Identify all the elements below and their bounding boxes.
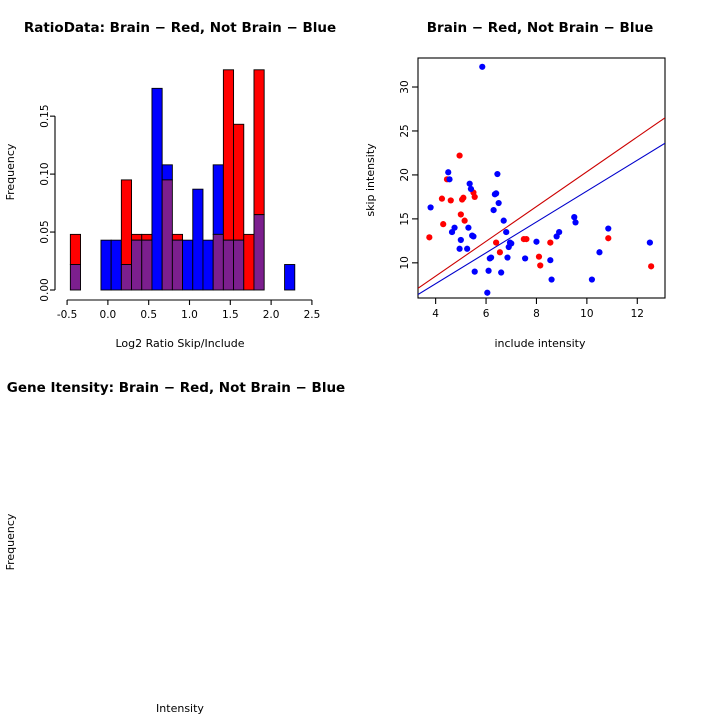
- y-tick-label: 0.15: [39, 104, 51, 127]
- plot-frame: [418, 58, 665, 298]
- x-tick-label: 2.0: [263, 309, 280, 321]
- hist-bar-overlap: [162, 180, 172, 290]
- ratio-histogram-xlabel: Log2 Ratio Skip/Include: [115, 337, 244, 350]
- hist-bar-overlap: [70, 265, 80, 290]
- y-tick-label: 0.10: [39, 162, 51, 185]
- ratio-histogram-svg: RatioData: Brain − Red, Not Brain − Blue…: [0, 0, 360, 360]
- scatter-point: [503, 229, 509, 235]
- scatter-point: [493, 190, 499, 196]
- y-tick-label: 0.05: [39, 220, 51, 243]
- scatter-point: [484, 290, 490, 296]
- scatter-point: [456, 152, 462, 158]
- intensity-scatter-frame: [418, 58, 665, 298]
- hist-bar-segment: [254, 70, 264, 215]
- x-tick-label: 10: [580, 308, 593, 320]
- ratio-histogram-ylabel: Frequency: [4, 143, 17, 200]
- x-tick-label: 6: [483, 308, 490, 320]
- scatter-point: [468, 186, 474, 192]
- hist-bar-segment: [121, 180, 131, 265]
- scatter-point: [448, 197, 454, 203]
- scatter-point: [496, 200, 502, 206]
- scatter-point: [498, 269, 504, 275]
- scatter-point: [479, 64, 485, 70]
- hist-bar-segment: [223, 70, 233, 240]
- figure-canvas: RatioData: Brain − Red, Not Brain − Blue…: [0, 0, 720, 720]
- hist-bar-segment: [213, 165, 223, 235]
- gene-intensity-title: Gene Itensity: Brain − Red, Not Brain − …: [7, 380, 345, 396]
- y-tick-label: 0.00: [39, 278, 51, 301]
- intensity-scatter-svg: Brain − Red, Not Brain − Blue 1015202530…: [360, 0, 720, 360]
- hist-bar-overlap: [223, 240, 233, 290]
- scatter-point: [485, 268, 491, 274]
- hist-bar-overlap: [234, 240, 244, 290]
- hist-bar-segment: [111, 240, 121, 290]
- hist-bar-overlap: [254, 215, 264, 290]
- hist-bar-overlap: [142, 240, 152, 290]
- panel-gene-intensity-histogram: Gene Itensity: Brain − Red, Not Brain − …: [0, 360, 360, 720]
- scatter-point: [428, 204, 434, 210]
- hist-bar-segment: [132, 234, 142, 240]
- y-tick-label: 10: [399, 256, 411, 269]
- x-tick-label: 1.5: [222, 309, 239, 321]
- scatter-point: [494, 171, 500, 177]
- scatter-point: [464, 246, 470, 252]
- hist-bar-segment: [70, 234, 80, 264]
- hist-bar-segment: [142, 234, 152, 240]
- hist-bar-overlap: [213, 234, 223, 290]
- scatter-point: [445, 169, 451, 175]
- scatter-point: [426, 234, 432, 240]
- hist-bar-segment: [183, 240, 193, 290]
- scatter-point: [491, 207, 497, 213]
- scatter-point: [556, 229, 562, 235]
- scatter-point: [488, 254, 494, 260]
- hist-bar-segment: [285, 265, 295, 290]
- gene-intensity-svg: Gene Itensity: Brain − Red, Not Brain − …: [0, 360, 360, 720]
- hist-bar-overlap: [172, 240, 182, 290]
- scatter-point: [537, 262, 543, 268]
- scatter-point: [605, 235, 611, 241]
- panel-ratio-histogram: RatioData: Brain − Red, Not Brain − Blue…: [0, 0, 360, 360]
- scatter-point: [501, 218, 507, 224]
- scatter-point: [533, 239, 539, 245]
- scatter-point: [571, 214, 577, 220]
- ratio-histogram-title: RatioData: Brain − Red, Not Brain − Blue: [24, 20, 336, 36]
- hist-bar-segment: [172, 234, 182, 240]
- ratio-histogram-bars: [70, 70, 294, 290]
- hist-bar-segment: [193, 189, 203, 290]
- scatter-point: [462, 218, 468, 224]
- scatter-point: [547, 240, 553, 246]
- x-tick-label: 0.0: [100, 309, 117, 321]
- scatter-point: [547, 257, 553, 263]
- scatter-point: [467, 181, 473, 187]
- x-tick-label: 4: [432, 308, 439, 320]
- scatter-point: [548, 276, 554, 282]
- intensity-scatter-title: Brain − Red, Not Brain − Blue: [427, 20, 653, 36]
- x-tick-label: 12: [631, 308, 644, 320]
- scatter-point: [572, 219, 578, 225]
- x-tick-label: 1.0: [181, 309, 198, 321]
- y-tick-label: 20: [399, 168, 411, 181]
- scatter-point: [493, 240, 499, 246]
- scatter-point: [508, 240, 514, 246]
- scatter-point: [605, 225, 611, 231]
- hist-bar-segment: [234, 124, 244, 240]
- scatter-point: [458, 237, 464, 243]
- hist-bar-segment: [152, 88, 162, 290]
- scatter-point: [472, 194, 478, 200]
- scatter-point: [648, 263, 654, 269]
- hist-bar-segment: [203, 240, 213, 290]
- intensity-scatter-ylabel: skip intensity: [364, 143, 377, 217]
- intensity-scatter-xlabel: include intensity: [494, 337, 586, 350]
- y-tick-label: 30: [399, 80, 411, 93]
- scatter-point: [504, 254, 510, 260]
- scatter-point: [451, 225, 457, 231]
- scatter-point: [647, 240, 653, 246]
- scatter-point: [497, 249, 503, 255]
- hist-bar-segment: [162, 165, 172, 180]
- scatter-point: [589, 276, 595, 282]
- x-tick-label: -0.5: [57, 309, 78, 321]
- scatter-point: [523, 236, 529, 242]
- regression-line-notbrain-fit: [418, 143, 665, 294]
- scatter-point: [522, 255, 528, 261]
- scatter-point: [458, 211, 464, 217]
- y-tick-label: 25: [399, 124, 411, 137]
- gene-intensity-xlabel: Intensity: [156, 702, 204, 715]
- hist-bar-overlap: [132, 240, 142, 290]
- hist-bar-overlap: [121, 265, 131, 290]
- panel-intensity-scatter: Brain − Red, Not Brain − Blue 1015202530…: [360, 0, 720, 360]
- scatter-point: [439, 196, 445, 202]
- scatter-point: [536, 254, 542, 260]
- scatter-point: [470, 233, 476, 239]
- scatter-point: [446, 176, 452, 182]
- y-tick-label: 15: [399, 212, 411, 225]
- intensity-scatter-points: [426, 64, 654, 296]
- hist-bar-segment: [244, 234, 254, 290]
- scatter-point: [456, 246, 462, 252]
- scatter-point: [440, 221, 446, 227]
- x-tick-label: 8: [533, 308, 540, 320]
- x-tick-label: 0.5: [140, 309, 157, 321]
- scatter-point: [465, 225, 471, 231]
- scatter-point: [460, 195, 466, 201]
- gene-intensity-ylabel: Frequency: [4, 513, 17, 570]
- panel-gene-info: G7083467@J936224_RC@j_at altTxStart Scfd…: [360, 360, 720, 720]
- hist-bar-segment: [101, 240, 111, 290]
- scatter-point: [596, 249, 602, 255]
- x-tick-label: 2.5: [304, 309, 321, 321]
- scatter-point: [472, 269, 478, 275]
